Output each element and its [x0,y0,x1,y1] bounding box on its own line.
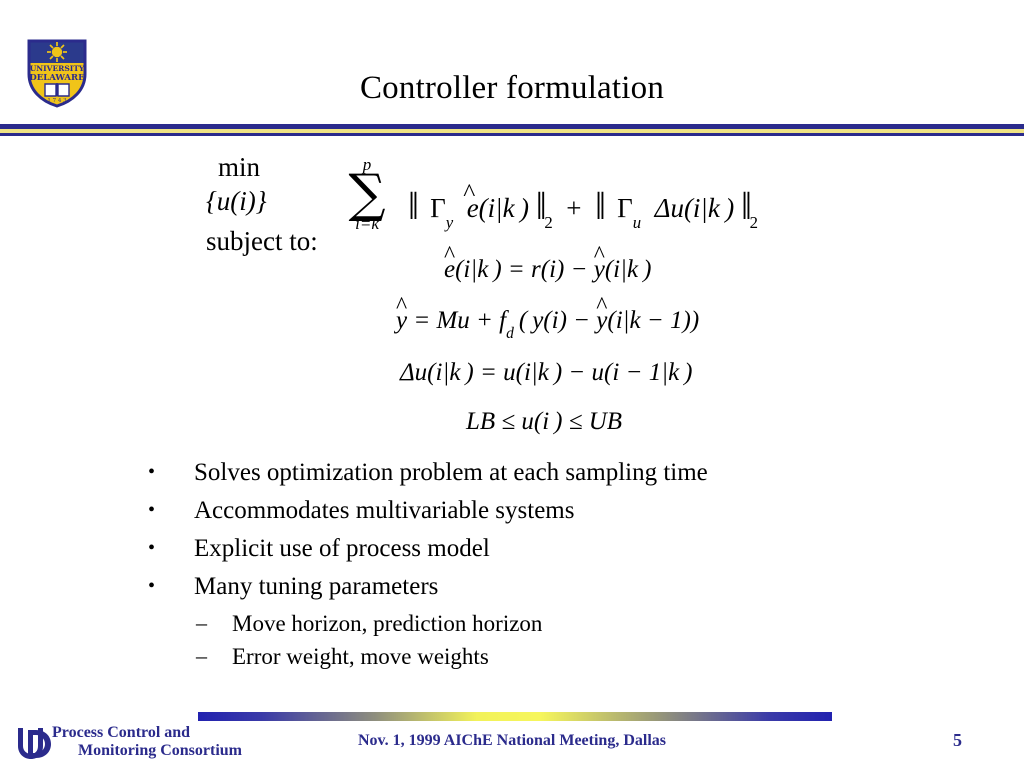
summation-operator: p ∑ i=k [322,156,412,232]
bullet-icon: • [148,460,194,485]
slide-footer: Process Control and Monitoring Consortiu… [0,700,1024,768]
bullet-icon: • [148,574,194,599]
gamma-y-symbol: Γy [423,193,453,223]
sub-bullet-text: Error weight, move weights [232,645,948,668]
list-item: • Solves optimization problem at each sa… [148,460,948,485]
plus-operator: + [559,193,588,223]
bullet-list: • Solves optimization problem at each sa… [148,460,948,678]
summation-lower-limit: i=k [322,215,412,232]
list-item: • Accommodates multivariable systems [148,498,948,523]
list-item: • Explicit use of process model [148,536,948,561]
norm-order-2-b: 2 [750,213,758,232]
sub-list-item: – Move horizon, prediction horizon [196,612,948,635]
slide-header: UNIVERSITY DELAWARE 1 7 4 3 Controller f… [0,0,1024,120]
bullet-text: Many tuning parameters [194,574,948,599]
header-divider [0,124,1024,136]
sub-list-item: – Error weight, move weights [196,645,948,668]
objective-function: ‖ Γy ^ e(i|k ) ‖2 + ‖ Γu Δu(i|k ) ‖2 [408,182,758,228]
norm-bar-close-2: ‖ [741,185,750,228]
e-hat-symbol: ^ e [460,193,479,224]
constraint-bounds-equation: LB ≤ u(i ) ≤ UB [466,408,622,436]
footer-gradient-bar [198,712,832,721]
bullet-icon: • [148,498,194,523]
page-title: Controller formulation [0,70,1024,107]
dash-icon: – [196,612,232,634]
norm-order-2-a: 2 [544,213,552,232]
meeting-info: Nov. 1, 1999 AIChE National Meeting, Dal… [0,732,1024,750]
gamma-u-symbol: Γu [610,193,641,223]
constraint-delta-u-equation: Δu(i|k ) = u(i|k ) − u(i − 1|k ) [400,359,693,387]
bullet-text: Explicit use of process model [194,536,948,561]
divider-stripe-navy-bottom [0,133,1024,136]
slide-number: 5 [953,730,962,751]
constraint-prediction-equation: ^y = Mu + fd ( y(i) − ^y(i|k − 1)) [396,307,699,339]
sub-bullet-text: Move horizon, prediction horizon [232,612,948,635]
sigma-icon: ∑ [322,173,412,216]
list-item: • Many tuning parameters [148,574,948,599]
delta-u-term: Δu(i|k ) [648,193,734,223]
e-arguments: (i|k ) [479,193,529,223]
dash-icon: – [196,645,232,667]
bullet-icon: • [148,536,194,561]
bullet-text: Accommodates multivariable systems [194,498,948,523]
norm-bar-open-2: ‖ [595,185,604,228]
norm-bar-open-1: ‖ [408,185,417,228]
constraint-error-equation: ^e(i|k ) = r(i) − ^y(i|k ) [444,256,651,284]
equation-block: min {u(i)} subject to: p ∑ i=k ‖ Γy ^ e(… [0,152,1024,452]
bullet-text: Solves optimization problem at each samp… [194,460,948,485]
